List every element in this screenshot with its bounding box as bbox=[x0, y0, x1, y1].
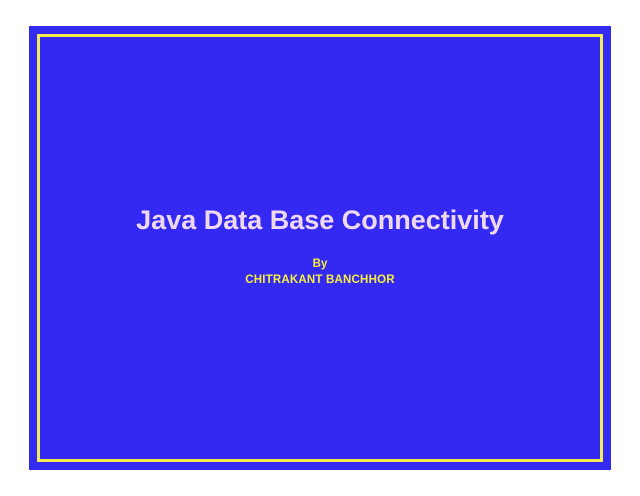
byline-label: By bbox=[29, 256, 611, 272]
slide-panel: Java Data Base Connectivity By CHITRAKAN… bbox=[29, 26, 611, 470]
author-name: CHITRAKANT BANCHHOR bbox=[29, 272, 611, 288]
title-block: Java Data Base Connectivity By CHITRAKAN… bbox=[29, 26, 611, 470]
byline-group: By CHITRAKANT BANCHHOR bbox=[29, 256, 611, 288]
page-title: Java Data Base Connectivity bbox=[29, 204, 611, 236]
slide-page: Java Data Base Connectivity By CHITRAKAN… bbox=[0, 0, 640, 496]
